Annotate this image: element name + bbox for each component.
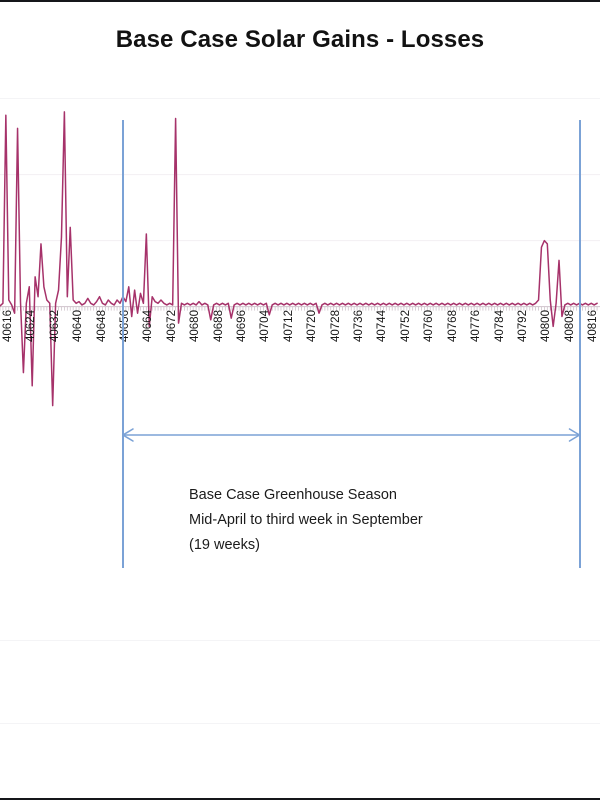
chart-x-axis-labels: 4061640624406324064040648406564066440672… <box>0 328 600 408</box>
page-guide-line <box>0 98 600 99</box>
season-annotation-text: Base Case Greenhouse Season Mid-April to… <box>189 483 529 558</box>
season-start-boundary-line <box>122 120 124 568</box>
page-guide-line <box>0 640 600 641</box>
season-span-arrow <box>0 407 600 467</box>
season-arrow-svg <box>0 407 600 467</box>
page-title: Base Case Solar Gains - Losses <box>0 26 600 54</box>
slide-canvas: Base Case Solar Gains - Losses 406164062… <box>0 0 600 800</box>
season-end-boundary-line <box>579 120 581 568</box>
season-annotation-line-3: (19 weeks) <box>189 533 529 558</box>
chart-x-axis-ticks <box>0 307 597 311</box>
x-axis-tick-label: 40816 <box>586 328 600 342</box>
page-guide-line <box>0 723 600 724</box>
season-annotation-line-2: Mid-April to third week in September <box>189 508 529 533</box>
chart-gridlines <box>0 175 600 241</box>
season-annotation-line-1: Base Case Greenhouse Season <box>189 483 529 508</box>
